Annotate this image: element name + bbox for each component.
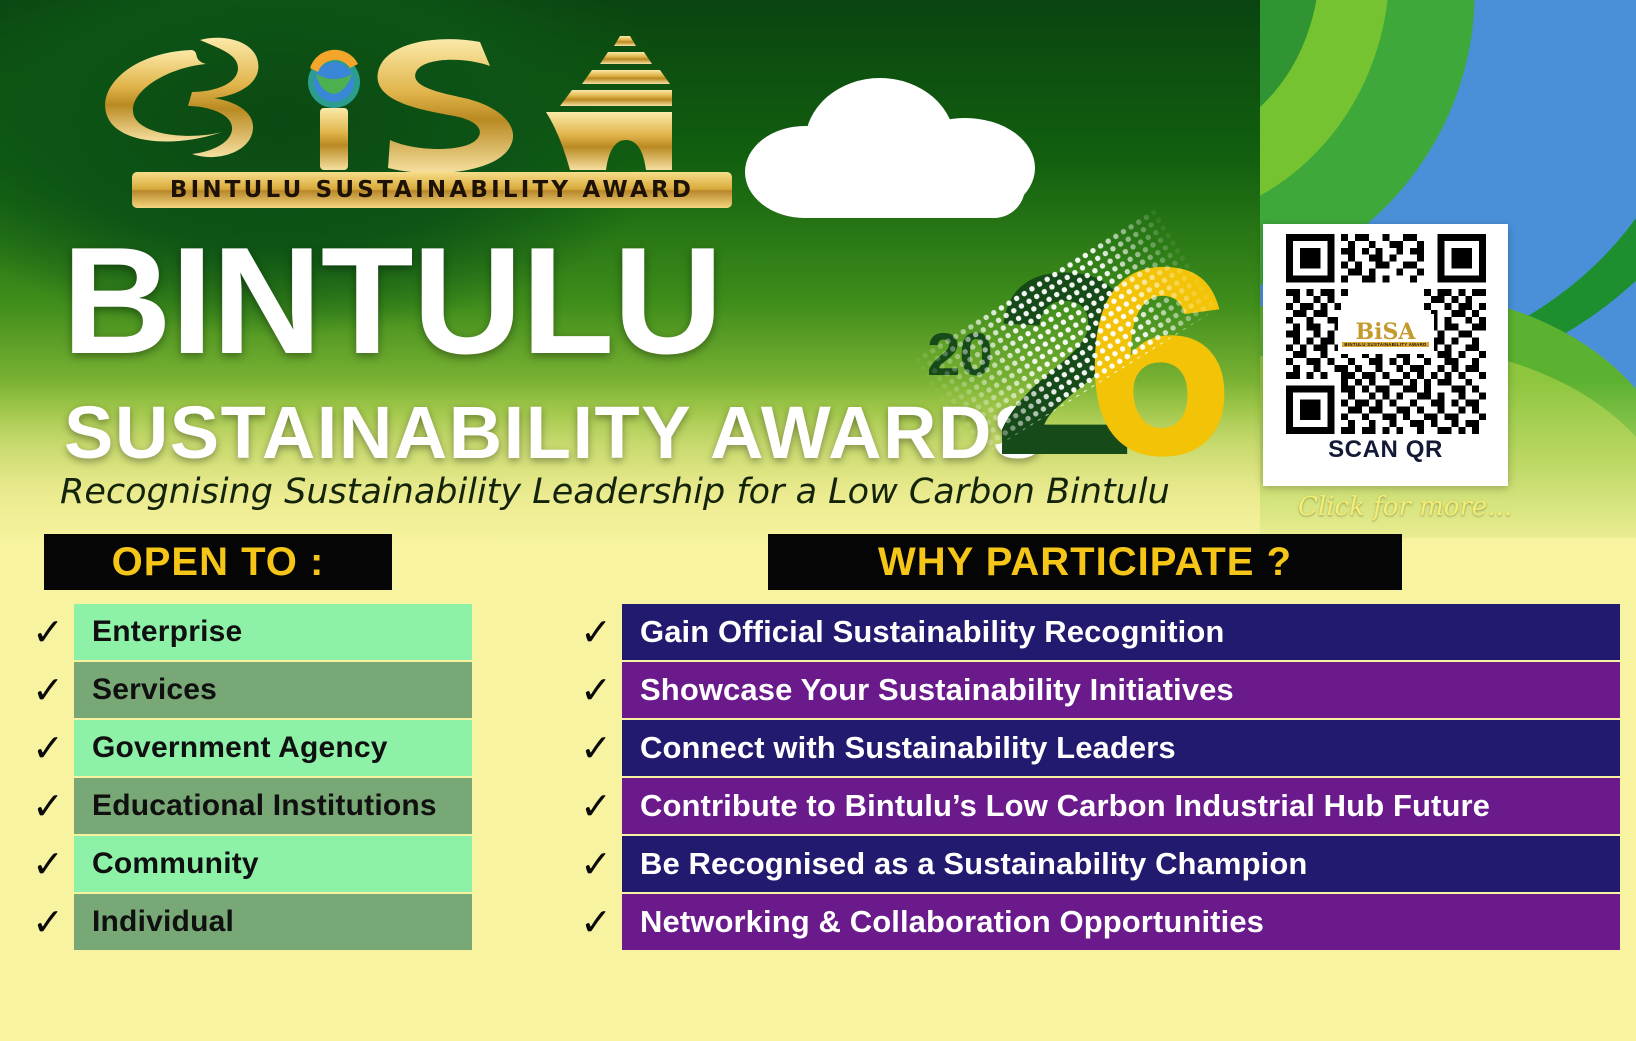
qr-code-card[interactable]: BiSA BINTULU SUSTAINABILITY AWARD SCAN Q… [1263,224,1508,486]
check-icon: ✓ [22,662,74,718]
check-icon: ✓ [22,720,74,776]
check-icon: ✓ [22,778,74,834]
why-participate-item-label: Showcase Your Sustainability Initiatives [622,662,1620,718]
list-item[interactable]: ✓ Educational Institutions [22,778,472,834]
list-item[interactable]: ✓ Contribute to Bintulu’s Low Carbon Ind… [570,778,1620,834]
open-to-header-text: OPEN TO : [112,540,325,585]
check-icon: ✓ [570,720,622,776]
check-icon: ✓ [570,604,622,660]
poster-root: BINTULU SUSTAINABILITY AWARD BINTULU SUS… [0,0,1636,1041]
check-icon: ✓ [570,662,622,718]
qr-embedded-logo-text: BiSA [1356,322,1416,342]
year-graphic-2026: 2 6 20 [915,245,1225,480]
qr-embedded-logo: BiSA BINTULU SUSTAINABILITY AWARD [1338,314,1434,354]
check-icon: ✓ [22,836,74,892]
open-to-item-label: Services [74,662,472,718]
why-participate-list: ✓ Gain Official Sustainability Recogniti… [570,604,1620,952]
open-to-header-bar: OPEN TO : [44,534,392,590]
list-item[interactable]: ✓ Individual [22,894,472,950]
list-item[interactable]: ✓ Services [22,662,472,718]
logo-banner: BINTULU SUSTAINABILITY AWARD [132,172,732,208]
bisa-logo-mark [72,22,672,172]
list-item[interactable]: ✓ Enterprise [22,604,472,660]
why-participate-header-bar: WHY PARTICIPATE ? [768,534,1402,590]
bisa-logo[interactable]: BINTULU SUSTAINABILITY AWARD [72,22,672,212]
list-item[interactable]: ✓ Showcase Your Sustainability Initiativ… [570,662,1620,718]
why-participate-item-label: Connect with Sustainability Leaders [622,720,1620,776]
page-subtitle: SUSTAINABILITY AWARDS [64,396,1044,470]
check-icon: ✓ [22,894,74,950]
year-digit-6: 6 [1085,227,1234,495]
qr-embedded-logo-subtext: BINTULU SUSTAINABILITY AWARD [1342,342,1428,347]
list-item[interactable]: ✓ Gain Official Sustainability Recogniti… [570,604,1620,660]
open-to-item-label: Educational Institutions [74,778,472,834]
list-item[interactable]: ✓ Be Recognised as a Sustainability Cham… [570,836,1620,892]
list-item[interactable]: ✓ Government Agency [22,720,472,776]
open-to-item-label: Individual [74,894,472,950]
why-participate-header-text: WHY PARTICIPATE ? [878,540,1292,585]
list-item[interactable]: ✓ Community [22,836,472,892]
page-title: BINTULU [62,225,722,377]
check-icon: ✓ [22,604,74,660]
list-item[interactable]: ✓ Connect with Sustainability Leaders [570,720,1620,776]
check-icon: ✓ [570,836,622,892]
why-participate-item-label: Contribute to Bintulu’s Low Carbon Indus… [622,778,1620,834]
check-icon: ✓ [570,894,622,950]
why-participate-item-label: Networking & Collaboration Opportunities [622,894,1620,950]
qr-click-for-more-label[interactable]: Click for more... [1298,492,1512,522]
logo-banner-text: BINTULU SUSTAINABILITY AWARD [170,177,694,203]
list-item[interactable]: ✓ Networking & Collaboration Opportuniti… [570,894,1620,950]
open-to-item-label: Government Agency [74,720,472,776]
open-to-item-label: Community [74,836,472,892]
qr-code-image[interactable]: BiSA BINTULU SUSTAINABILITY AWARD [1280,234,1492,434]
why-participate-item-label: Be Recognised as a Sustainability Champi… [622,836,1620,892]
check-icon: ✓ [570,778,622,834]
qr-scan-label: SCAN QR [1328,436,1443,464]
why-participate-item-label: Gain Official Sustainability Recognition [622,604,1620,660]
cloud-icon [745,78,1045,208]
open-to-list: ✓ Enterprise ✓ Services ✓ Government Age… [22,604,472,952]
year-prefix-20: 20 [927,320,992,389]
open-to-item-label: Enterprise [74,604,472,660]
